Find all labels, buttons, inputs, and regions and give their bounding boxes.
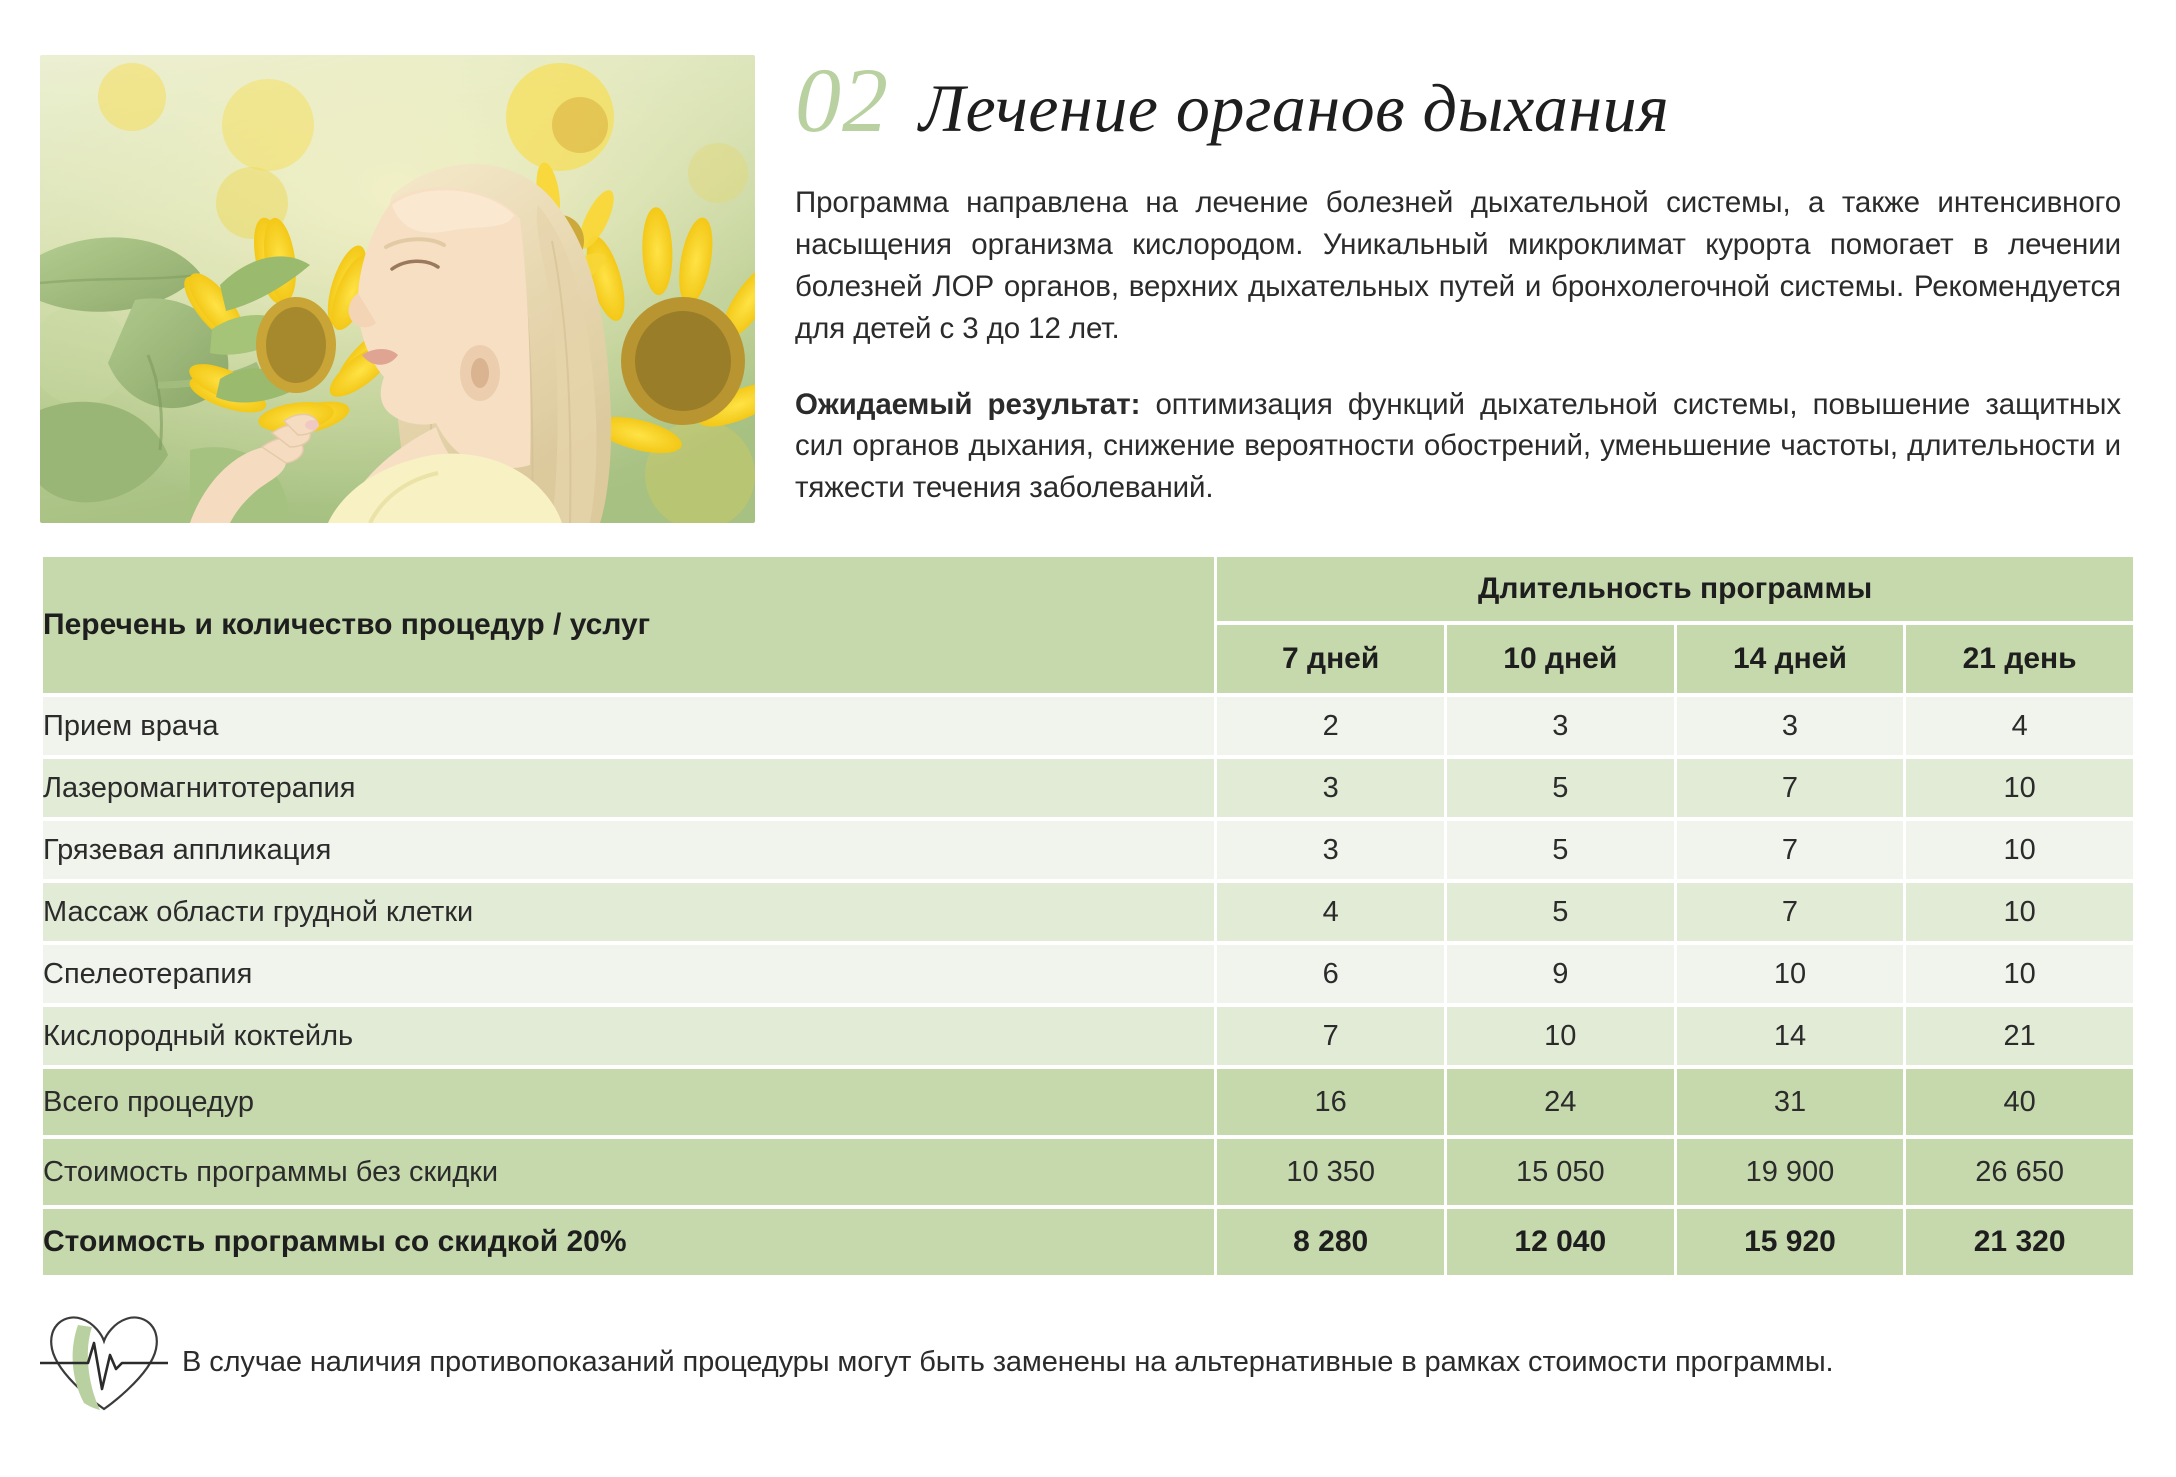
table-row: Спелеотерапия 6 9 10 10 (43, 945, 2133, 1003)
table-summary-row-price-full: Стоимость программы без скидки 10 350 15… (43, 1139, 2133, 1205)
expected-result-label: Ожидаемый результат: (795, 388, 1140, 421)
footer-note-text: В случае наличия противопоказаний процед… (182, 1345, 1834, 1380)
row-label: Спелеотерапия (43, 945, 1214, 1003)
header-duration-21: 21 день (1906, 625, 2133, 693)
table-head: Перечень и количество процедур / услуг Д… (43, 557, 2133, 693)
row-value-14: 3 (1677, 697, 1904, 755)
row-value-21: 10 (1906, 821, 2133, 879)
row-value-10: 5 (1447, 821, 1674, 879)
row-value-10: 3 (1447, 697, 1674, 755)
expected-result-paragraph: Ожидаемый результат: оптимизация функций… (795, 384, 2121, 510)
row-label: Лазеромагнитотерапия (43, 759, 1214, 817)
row-label: Стоимость программы со скидкой 20% (43, 1209, 1214, 1275)
row-value-14: 15 920 (1677, 1209, 1904, 1275)
row-value-21: 10 (1906, 759, 2133, 817)
program-description: Программа направлена на лечение болезней… (795, 182, 2121, 350)
row-value-7: 16 (1217, 1069, 1444, 1135)
program-table-wrapper: Перечень и количество процедур / услуг Д… (40, 553, 2136, 1279)
row-value-14: 10 (1677, 945, 1904, 1003)
intro-text-block: 02 Лечение органов дыхания Программа нап… (755, 55, 2121, 509)
page-top-section: 02 Лечение органов дыхания Программа нап… (0, 0, 2176, 523)
row-value-14: 31 (1677, 1069, 1904, 1135)
row-value-14: 7 (1677, 821, 1904, 879)
heart-pulse-icon-svg (40, 1307, 168, 1417)
table-row: Прием врача 2 3 3 4 (43, 697, 2133, 755)
row-value-7: 8 280 (1217, 1209, 1444, 1275)
header-duration-7: 7 дней (1217, 625, 1444, 693)
row-value-14: 7 (1677, 883, 1904, 941)
table-summary-row-price-discounted: Стоимость программы со скидкой 20% 8 280… (43, 1209, 2133, 1275)
hero-photo-illustration (40, 55, 755, 523)
header-procedures-list: Перечень и количество процедур / услуг (43, 557, 1214, 693)
table-body: Прием врача 2 3 3 4 Лазеромагнитотерапия… (43, 697, 2133, 1275)
row-value-21: 26 650 (1906, 1139, 2133, 1205)
row-value-10: 24 (1447, 1069, 1674, 1135)
row-value-10: 15 050 (1447, 1139, 1674, 1205)
row-value-21: 10 (1906, 883, 2133, 941)
header-program-duration: Длительность программы (1217, 557, 2133, 621)
page-title: 02 Лечение органов дыхания (795, 59, 2121, 142)
header-duration-10: 10 дней (1447, 625, 1674, 693)
row-value-10: 5 (1447, 883, 1674, 941)
row-value-7: 2 (1217, 697, 1444, 755)
row-value-10: 9 (1447, 945, 1674, 1003)
row-value-7: 3 (1217, 759, 1444, 817)
row-value-14: 7 (1677, 759, 1904, 817)
row-value-7: 3 (1217, 821, 1444, 879)
program-table: Перечень и количество процедур / услуг Д… (40, 553, 2136, 1279)
row-value-14: 19 900 (1677, 1139, 1904, 1205)
row-value-14: 14 (1677, 1007, 1904, 1065)
row-label: Всего процедур (43, 1069, 1214, 1135)
table-row: Массаж области грудной клетки 4 5 7 10 (43, 883, 2133, 941)
heart-pulse-icon (40, 1307, 168, 1417)
program-title: Лечение органов дыхания (919, 74, 1669, 142)
row-label: Прием врача (43, 697, 1214, 755)
row-value-7: 7 (1217, 1007, 1444, 1065)
row-value-7: 4 (1217, 883, 1444, 941)
row-value-10: 5 (1447, 759, 1674, 817)
hero-photo (40, 55, 755, 523)
footer-note-block: В случае наличия противопоказаний процед… (40, 1307, 2136, 1417)
row-label: Массаж области грудной клетки (43, 883, 1214, 941)
row-label: Стоимость программы без скидки (43, 1139, 1214, 1205)
table-header-row-top: Перечень и количество процедур / услуг Д… (43, 557, 2133, 621)
program-number: 02 (795, 59, 889, 142)
row-value-10: 10 (1447, 1007, 1674, 1065)
row-label: Кислородный коктейль (43, 1007, 1214, 1065)
row-value-21: 21 (1906, 1007, 2133, 1065)
row-value-21: 40 (1906, 1069, 2133, 1135)
header-duration-14: 14 дней (1677, 625, 1904, 693)
row-value-21: 21 320 (1906, 1209, 2133, 1275)
table-row: Лазеромагнитотерапия 3 5 7 10 (43, 759, 2133, 817)
row-value-21: 4 (1906, 697, 2133, 755)
table-summary-row-total-procedures: Всего процедур 16 24 31 40 (43, 1069, 2133, 1135)
row-value-7: 10 350 (1217, 1139, 1444, 1205)
table-row: Грязевая аппликация 3 5 7 10 (43, 821, 2133, 879)
table-row: Кислородный коктейль 7 10 14 21 (43, 1007, 2133, 1065)
row-label: Грязевая аппликация (43, 821, 1214, 879)
row-value-21: 10 (1906, 945, 2133, 1003)
row-value-7: 6 (1217, 945, 1444, 1003)
row-value-10: 12 040 (1447, 1209, 1674, 1275)
